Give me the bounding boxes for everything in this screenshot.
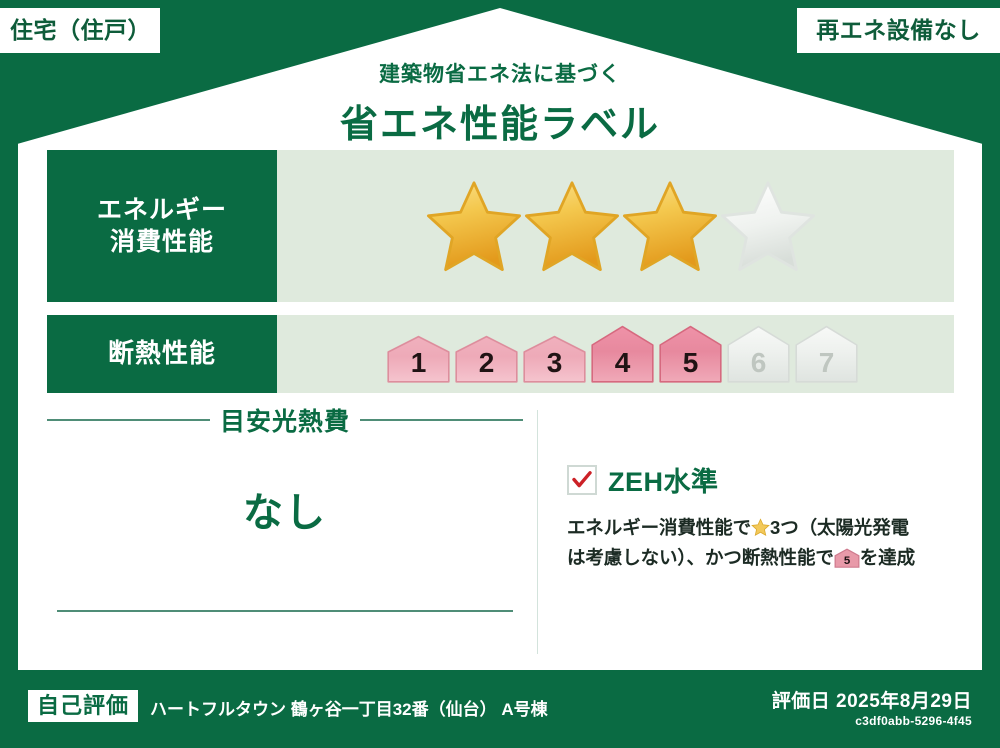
- heading-rule-right: [360, 419, 523, 421]
- zeh-desc-part2: は考慮しない）、かつ断熱性能で: [567, 547, 834, 568]
- insulation-level-badge: 2: [455, 335, 518, 383]
- energy-header-line2: 消費性能: [110, 226, 214, 258]
- energy-header-line1: エネルギー: [97, 194, 227, 226]
- label-content: エネルギー 消費性能 断熱性能 1234567 目安光熱費 なし: [30, 140, 970, 668]
- zeh-desc-part3: を達成: [860, 547, 915, 568]
- insulation-level-badge: 3: [523, 335, 586, 383]
- insulation-level-badge: 1: [387, 335, 450, 383]
- insulation-performance-row: 断熱性能 1234567: [47, 315, 954, 393]
- insulation-level-number: 6: [727, 349, 790, 377]
- vertical-divider: [537, 410, 538, 654]
- insulation-level-badge: 5: [659, 325, 722, 383]
- evaluation-id: c3df0abb-5296-4f45: [855, 714, 972, 728]
- tag-renewable-energy: 再エネ設備なし: [797, 8, 1000, 53]
- star-filled-icon: [524, 178, 620, 274]
- zeh-desc-part1: エネルギー消費性能で: [567, 517, 751, 538]
- insulation-level-number: 1: [387, 349, 450, 377]
- star-empty-icon: [720, 178, 816, 274]
- label-title-block: 建築物省エネ法に基づく 省エネ性能ラベル: [0, 58, 1000, 148]
- insulation-performance-scale-area: 1234567: [277, 315, 954, 393]
- insulation-performance-header: 断熱性能: [47, 315, 277, 393]
- insulation-level-scale: 1234567: [387, 325, 858, 383]
- inline-insulation-badge-icon: 5: [834, 547, 860, 567]
- zeh-title-row: ZEH水準: [567, 460, 987, 499]
- insulation-level-number: 4: [591, 349, 654, 377]
- title-subtitle: 建築物省エネ法に基づく: [0, 58, 1000, 88]
- energy-performance-stars-area: [277, 150, 954, 302]
- building-name: ハートフルタウン 鶴ヶ谷一丁目32番（仙台） A号棟: [150, 695, 548, 720]
- heading-rule-left: [47, 419, 210, 421]
- zeh-description: エネルギー消費性能で 3つ（太陽光発電は考慮しない）、かつ断熱性能で 5 を達成: [567, 513, 979, 573]
- evaluation-date-value: 2025年8月29日: [836, 691, 972, 712]
- svg-text:5: 5: [844, 555, 851, 567]
- utility-cost-heading: 目安光熱費: [47, 402, 523, 438]
- evaluation-date-label: 評価日: [772, 691, 831, 712]
- energy-performance-row: エネルギー 消費性能: [47, 150, 954, 302]
- insulation-level-badge: 6: [727, 325, 790, 383]
- label-footer: 自己評価 ハートフルタウン 鶴ヶ谷一丁目32番（仙台） A号棟 評価日 2025…: [0, 670, 1000, 748]
- energy-performance-header: エネルギー 消費性能: [47, 150, 277, 302]
- utility-cost-value: なし: [47, 480, 523, 538]
- utility-cost-heading-text: 目安光熱費: [220, 402, 350, 438]
- tag-building-type: 住宅（住戸）: [0, 8, 160, 53]
- zeh-title-label: ZEH水準: [608, 460, 719, 499]
- insulation-level-number: 5: [659, 349, 722, 377]
- evaluation-date: 評価日 2025年8月29日: [772, 686, 972, 713]
- zeh-checkbox[interactable]: [567, 465, 597, 495]
- self-evaluation-badge: 自己評価: [28, 690, 138, 722]
- insulation-level-badge: 7: [795, 325, 858, 383]
- insulation-level-number: 7: [795, 349, 858, 377]
- lower-panel: 目安光熱費 なし ZEH水準 エネルギー消費性能で: [47, 402, 954, 660]
- star-filled-icon: [622, 178, 718, 274]
- insulation-level-number: 3: [523, 349, 586, 377]
- star-filled-icon: [426, 178, 522, 274]
- star-rating: [426, 178, 816, 274]
- energy-performance-label: 住宅（住戸） 再エネ設備なし 建築物省エネ法に基づく 省エネ性能ラベル エネルギ…: [0, 0, 1000, 748]
- zeh-desc-star-count: 3つ（太陽光発電: [770, 517, 909, 538]
- insulation-level-number: 2: [455, 349, 518, 377]
- zeh-section: ZEH水準 エネルギー消費性能で 3つ（太陽光発電は考慮しない）、かつ断熱性能で…: [567, 460, 987, 573]
- utility-cost-bottom-rule: [57, 610, 513, 612]
- inline-star-icon: [751, 516, 770, 535]
- insulation-level-badge: 4: [591, 325, 654, 383]
